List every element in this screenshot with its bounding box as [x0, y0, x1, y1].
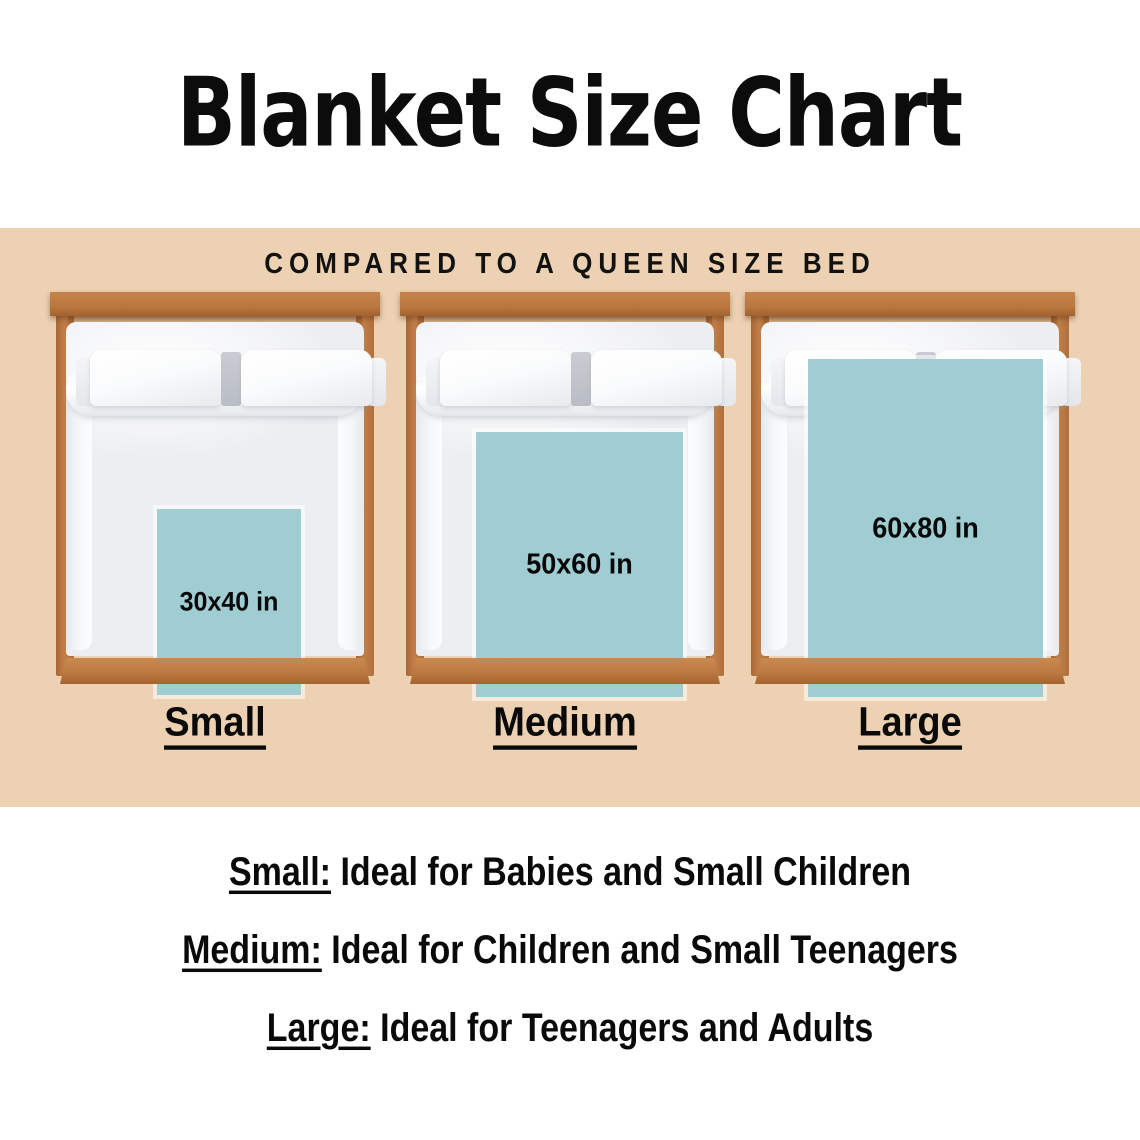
size-caption-large: Large	[745, 704, 1075, 748]
description-row-medium: Medium: Ideal for Children and Small Tee…	[0, 930, 1140, 969]
bed-footboard	[60, 658, 370, 684]
pillow-group	[88, 344, 374, 406]
description-text: Ideal for Babies and Small Children	[331, 850, 911, 894]
pillow-gap	[221, 352, 241, 406]
bed-column-small[interactable]: 30x40 in Small	[50, 288, 380, 748]
description-row-small: Small: Ideal for Babies and Small Childr…	[0, 852, 1140, 891]
blanket-overlay-large[interactable]: 60x80 in	[808, 359, 1043, 697]
pillow-group	[438, 344, 724, 406]
pillow-left	[90, 350, 221, 406]
duvet-drape-left	[66, 380, 92, 650]
description-term: Medium:	[182, 928, 322, 972]
description-row-large: Large: Ideal for Teenagers and Adults	[0, 1008, 1140, 1047]
duvet-drape-right	[338, 380, 364, 650]
bed-footboard	[410, 658, 720, 684]
bed-duvet: 50x60 in	[416, 322, 714, 656]
size-caption-small: Small	[50, 704, 380, 748]
bed-headboard	[745, 292, 1075, 316]
page-title: Blanket Size Chart	[177, 66, 962, 161]
bed-column-medium[interactable]: 50x60 in Medium	[400, 288, 730, 748]
blanket-size-label: 60x80 in	[872, 512, 979, 545]
description-text: Ideal for Teenagers and Adults	[371, 1006, 874, 1050]
bed-duvet: 60x80 in	[761, 322, 1059, 656]
queen-bed-illustration: 50x60 in	[400, 288, 730, 688]
size-caption-text: Large	[858, 702, 961, 750]
pillow-gap	[571, 352, 591, 406]
blanket-overlay-medium[interactable]: 50x60 in	[476, 432, 683, 697]
duvet-drape-left	[761, 380, 787, 650]
description-list: Small: Ideal for Babies and Small Childr…	[0, 855, 1140, 1089]
size-caption-text: Small	[164, 702, 265, 750]
pillow-right	[591, 350, 722, 406]
bed-column-large[interactable]: 60x80 in Large	[745, 288, 1075, 748]
bed-duvet: 30x40 in	[66, 322, 364, 656]
duvet-drape-right	[688, 380, 714, 650]
bed-footboard	[755, 658, 1065, 684]
size-caption-text: Medium	[493, 702, 637, 750]
description-text: Ideal for Children and Small Teenagers	[322, 928, 958, 972]
blanket-size-label: 30x40 in	[180, 587, 279, 618]
bed-headboard	[400, 292, 730, 316]
duvet-drape-left	[416, 380, 442, 650]
description-term: Large:	[267, 1006, 371, 1050]
pillow-left	[440, 350, 571, 406]
queen-bed-illustration: 30x40 in	[50, 288, 380, 688]
description-term: Small:	[229, 850, 331, 894]
bed-headboard	[50, 292, 380, 316]
comparison-panel: COMPARED TO A QUEEN SIZE BED	[0, 228, 1140, 807]
beds-row: 30x40 in Small	[0, 288, 1140, 748]
panel-subtitle: COMPARED TO A QUEEN SIZE BED	[0, 246, 1140, 281]
size-caption-medium: Medium	[400, 704, 730, 748]
pillow-right	[241, 350, 372, 406]
blanket-size-label: 50x60 in	[526, 548, 633, 581]
title-bar: Blanket Size Chart	[0, 0, 1140, 228]
queen-bed-illustration: 60x80 in	[745, 288, 1075, 688]
